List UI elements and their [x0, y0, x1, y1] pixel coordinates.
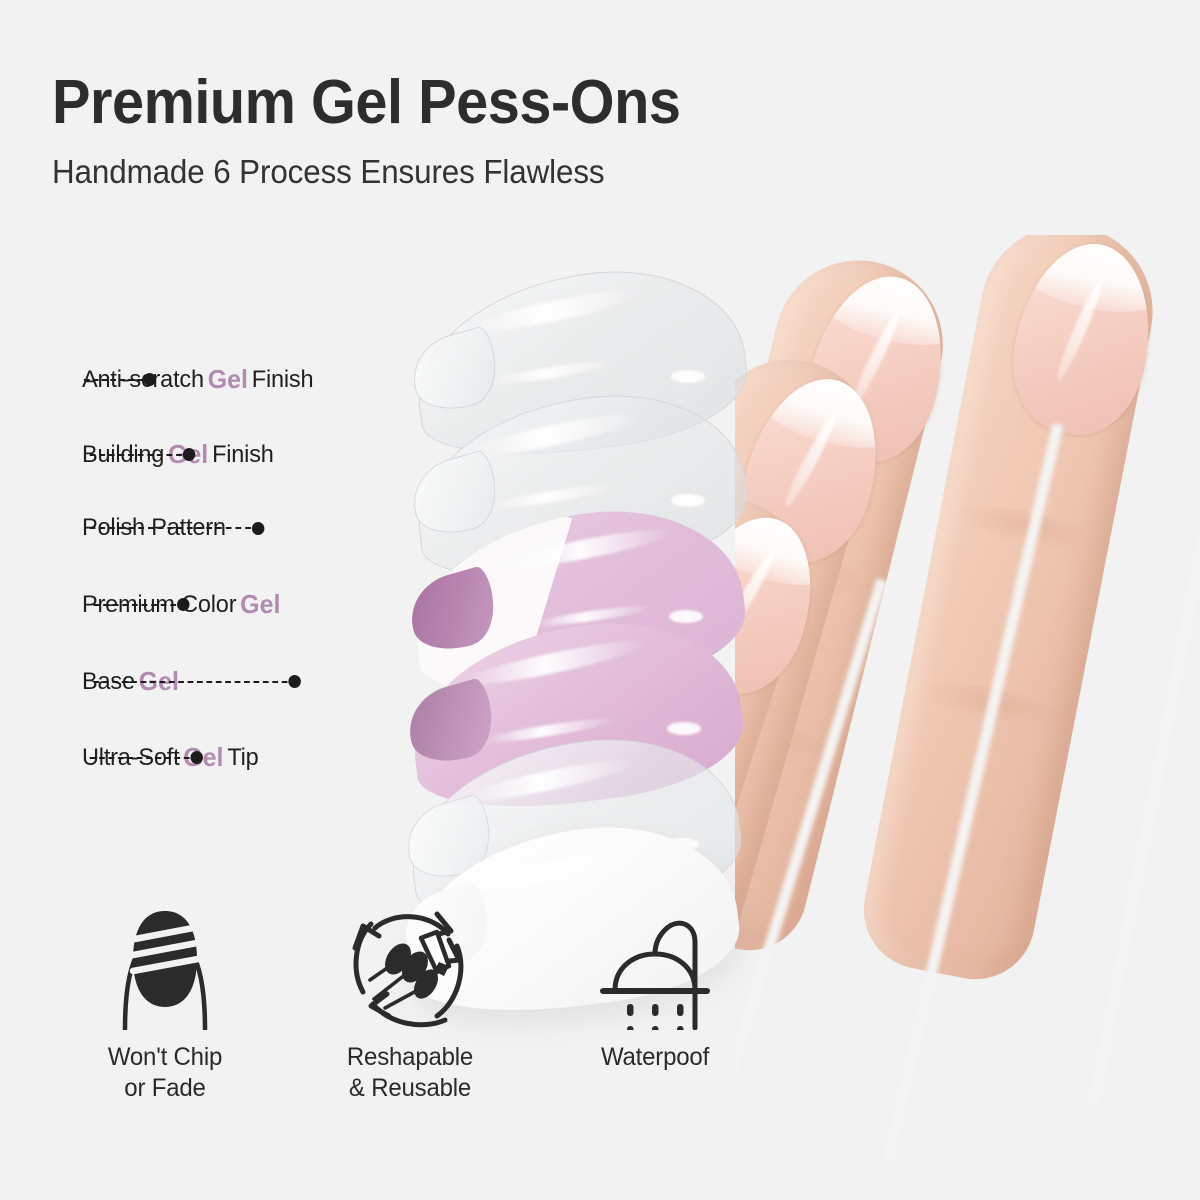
- leader-dot: [183, 448, 195, 461]
- label-suffix: Finish: [252, 366, 314, 394]
- leader-dot: [190, 751, 202, 764]
- label-highlight: Gel: [204, 364, 252, 395]
- leader-dot: [288, 675, 300, 688]
- leader-dot: [177, 598, 189, 611]
- feature-wont-chip-or-fade: Won't Chip or Fade: [55, 900, 275, 1103]
- leader-line: [90, 448, 196, 462]
- layer-label-anti-scratch-gel-finish: Anti-scratch Gel Finish: [82, 364, 313, 395]
- infographic-canvas: Premium Gel Pess-Ons Handmade 6 Process …: [0, 0, 1200, 1200]
- label-suffix: Finish: [212, 441, 274, 469]
- layer-label-polish-pattern: Polish Pattern: [82, 514, 233, 542]
- feature-list: Won't Chip or Fade: [40, 900, 740, 1120]
- label-suffix: Tip: [227, 744, 258, 772]
- layer-label-list: Anti-scratch Gel Finish Building Gel Fin…: [0, 0, 440, 820]
- feature-caption-line1: Won't Chip: [59, 1042, 270, 1073]
- striped-nail-icon: [55, 900, 275, 1030]
- leader-dot: [143, 373, 155, 386]
- leader-line: [90, 521, 265, 535]
- layer-label-building-gel-finish: Building Gel Finish: [82, 439, 274, 470]
- feature-caption-line1: Waterpoof: [549, 1042, 760, 1073]
- leader-line: [94, 598, 190, 612]
- recycle-file-icon: [300, 900, 520, 1030]
- leader-line: [90, 751, 203, 765]
- nail-layer-stack: [395, 275, 765, 855]
- feature-caption: Won't Chip or Fade: [59, 1042, 270, 1103]
- feature-waterproof: Waterpoof: [545, 900, 765, 1073]
- leader-dot: [252, 522, 264, 535]
- layer-label-base-gel: Base Gel: [82, 666, 183, 697]
- leader-line: [84, 373, 156, 387]
- feature-caption-line1: Reshapable: [304, 1042, 515, 1073]
- leader-line: [94, 675, 301, 689]
- feature-reshapable-reusable: Reshapable & Reusable: [300, 900, 520, 1103]
- feature-caption-line2: or Fade: [59, 1073, 270, 1104]
- feature-caption: Waterpoof: [549, 1042, 760, 1073]
- feature-caption: Reshapable & Reusable: [304, 1042, 515, 1103]
- feature-caption-line2: & Reusable: [304, 1073, 515, 1104]
- label-highlight: Gel: [236, 589, 284, 620]
- shower-head-icon: [545, 900, 765, 1030]
- layer-label-premium-color-gel: Premium Color Gel: [82, 589, 284, 620]
- hand-photo: [735, 235, 1200, 1200]
- layer-label-ultra-soft-gel-tip: Ultra-Soft Gel Tip: [82, 742, 259, 773]
